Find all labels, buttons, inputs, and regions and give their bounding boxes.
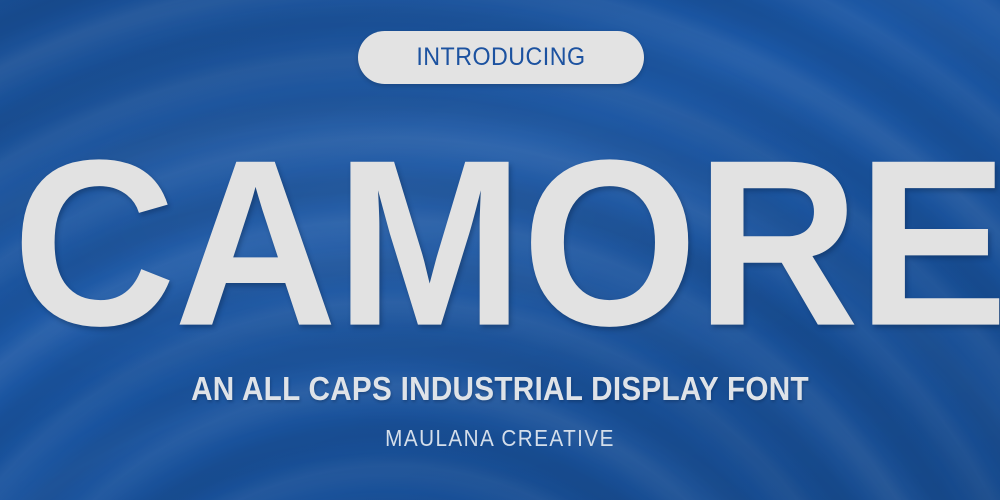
introducing-badge-label: INTRODUCING	[416, 45, 585, 70]
poster-content: INTRODUCING CAMORE AN ALL CAPS INDUSTRIA…	[0, 0, 1000, 500]
font-promo-poster: INTRODUCING CAMORE AN ALL CAPS INDUSTRIA…	[0, 0, 1000, 500]
font-tagline: AN ALL CAPS INDUSTRIAL DISPLAY FONT	[50, 372, 950, 405]
foundry-credit: MAULANA CREATIVE	[50, 427, 950, 450]
introducing-badge: INTRODUCING	[358, 31, 644, 84]
font-name-title: CAMORE	[13, 126, 988, 363]
